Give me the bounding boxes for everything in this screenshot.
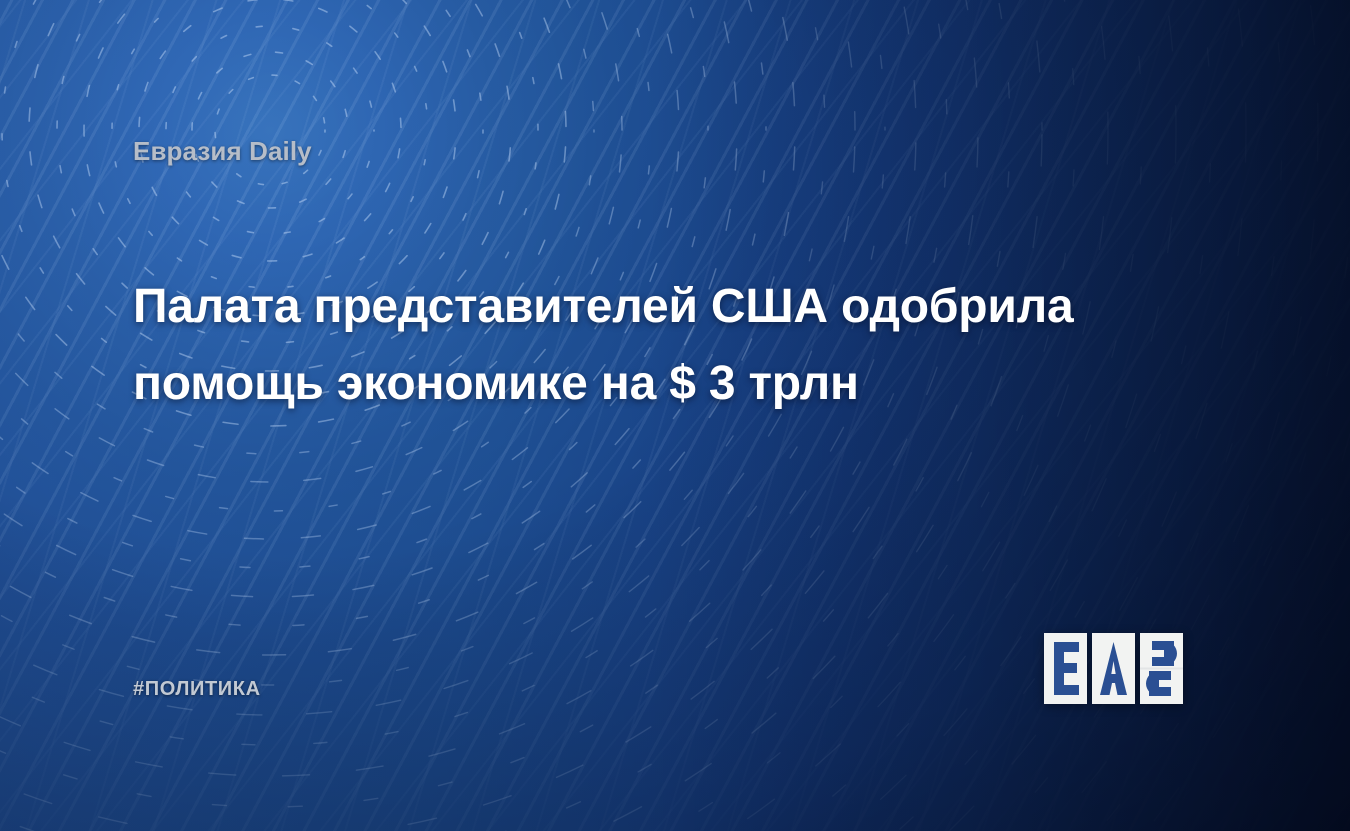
headline-line-2: помощь экономике на $ 3 трлн bbox=[133, 345, 1223, 422]
logo-tile-e bbox=[1044, 633, 1087, 704]
logo-tile-a bbox=[1092, 633, 1135, 704]
page-title: Палата представителей США одобрила помощ… bbox=[133, 268, 1223, 422]
category-hashtag[interactable]: #ПОЛИТИКА bbox=[133, 678, 261, 701]
eadaily-logo[interactable] bbox=[1044, 633, 1183, 704]
logo-tile-d bbox=[1140, 633, 1183, 704]
brand-name: Евразия Daily bbox=[133, 136, 312, 167]
card-content: Евразия Daily Палата представителей США … bbox=[0, 0, 1350, 831]
headline-line-1: Палата представителей США одобрила bbox=[133, 268, 1223, 345]
news-share-card: Евразия Daily Палата представителей США … bbox=[0, 0, 1350, 831]
